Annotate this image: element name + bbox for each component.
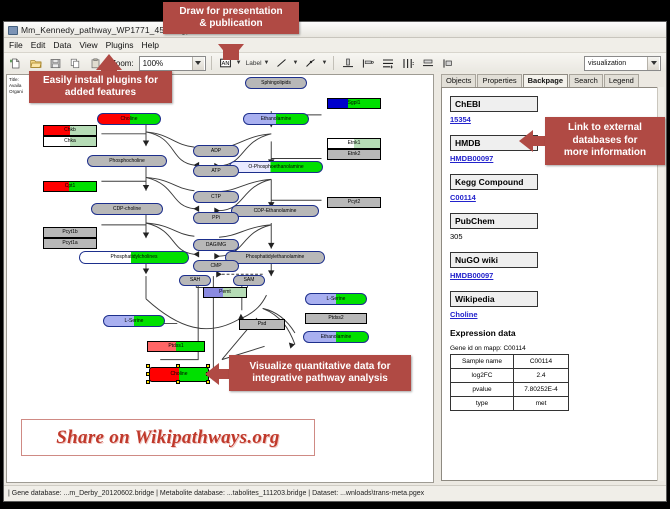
metabolite-atp[interactable]: ATP [193, 165, 239, 177]
gene-pemt[interactable]: Pemt [203, 287, 247, 298]
gene-ptdss1[interactable]: Ptdss1 [147, 341, 205, 352]
toolbar-separator-2 [333, 56, 334, 70]
distribute-vertical-icon[interactable] [379, 55, 396, 72]
backpage-link-wikipedia[interactable]: Choline [450, 310, 649, 319]
metabolite-dag-mg[interactable]: DAG/MG [193, 239, 239, 251]
callout-plugins-line2: added features [65, 87, 136, 100]
tab-properties[interactable]: Properties [477, 74, 521, 87]
metabolite-cmp[interactable]: CMP [193, 260, 239, 272]
callout-plugins-arrow-icon [96, 54, 122, 70]
callout-visualize-arrow-icon [205, 363, 219, 385]
visualization-combo[interactable]: visualization [584, 56, 661, 71]
selection-handle-nw[interactable] [146, 364, 150, 368]
menu-item-view[interactable]: View [79, 40, 97, 50]
expression-value-log2fc: 2.4 [514, 369, 569, 383]
expression-key-log2fc: log2FC [451, 369, 514, 383]
table-row: type met [451, 397, 569, 411]
callout-share-text: Share on Wikipathways.org [56, 427, 279, 449]
selection-handle-w[interactable] [146, 372, 150, 376]
gene-pcyt2[interactable]: Pcyt2 [327, 197, 381, 208]
table-row: log2FC 2.4 [451, 369, 569, 383]
callout-draw-arrow-icon [218, 44, 244, 60]
callout-links-line1: Link to external [568, 122, 642, 135]
menu-bar: File Edit Data View Plugins Help [4, 38, 666, 53]
metabolite-ethanolamine[interactable]: Ethanolamine [243, 113, 309, 125]
expression-value-pvalue: 7.80252E-4 [514, 383, 569, 397]
backpage-heading-pubchem: PubChem [450, 213, 538, 229]
anchor-dropdown-icon[interactable]: ▼ [321, 60, 327, 66]
menu-item-help[interactable]: Help [142, 40, 159, 50]
metabolite-l-serine-right[interactable]: L-Serine [305, 293, 367, 305]
copy-icon[interactable] [67, 55, 84, 72]
callout-plugins: Easily install plugins for added feature… [29, 71, 172, 103]
align-left-icon[interactable] [359, 55, 376, 72]
stack-icon[interactable] [419, 55, 436, 72]
backpage-heading-kegg: Kegg Compound [450, 174, 538, 190]
menu-item-file[interactable]: File [9, 40, 23, 50]
metabolite-adp[interactable]: ADP [193, 145, 239, 157]
anchor-icon[interactable] [302, 55, 319, 72]
status-bar: | Gene database: ...m_Derby_20120602.bri… [4, 485, 666, 501]
backpage-link-kegg[interactable]: C00114 [450, 193, 649, 202]
gene-sgpl1[interactable]: Sgpl1 [327, 98, 381, 109]
table-row: pvalue 7.80252E-4 [451, 383, 569, 397]
gene-etnk2[interactable]: Etnk2 [327, 149, 381, 160]
align-bottom-icon[interactable] [339, 55, 356, 72]
expression-table: Sample name C00114 log2FC 2.4 pvalue 7.8… [450, 354, 569, 411]
selection-handle-s[interactable] [176, 380, 180, 384]
backpage-heading-nugo: NuGO wiki [450, 252, 538, 268]
callout-links-arrow-icon [519, 130, 533, 152]
metabolite-sphingolipids[interactable]: Sphingolipids [245, 77, 307, 89]
gene-chka[interactable]: Chka [43, 136, 97, 147]
label-dropdown-icon[interactable]: ▼ [264, 60, 270, 66]
metabolite-ppi[interactable]: PPi [193, 212, 239, 224]
chevron-down-icon[interactable] [192, 57, 204, 70]
metabolite-l-serine-left[interactable]: L-Serine [103, 315, 165, 327]
metabolite-ethanolamine-lower[interactable]: Ethanolamine [303, 331, 369, 343]
datanode-dropdown-icon[interactable]: ▼ [236, 60, 242, 66]
callout-plugins-line1: Easily install plugins for [43, 75, 158, 88]
expression-value-type: met [514, 397, 569, 411]
gene-cpt1[interactable]: Cpt1 [43, 181, 97, 192]
tab-search[interactable]: Search [569, 74, 603, 87]
table-row: Sample name C00114 [451, 355, 569, 369]
status-bar-text: | Gene database: ...m_Derby_20120602.bri… [8, 490, 424, 497]
gene-etnk1[interactable]: Etnk1 [327, 138, 381, 149]
menu-item-plugins[interactable]: Plugins [106, 40, 134, 50]
gene-pcyt1a[interactable]: Pcyt1a [43, 238, 97, 249]
metabolite-phosphocholine[interactable]: Phosphocholine [87, 155, 167, 167]
callout-visualize-line1: Visualize quantitative data for [250, 361, 391, 374]
expression-key-sample-name: Sample name [451, 355, 514, 369]
metabolite-phosphatidylethanolamine[interactable]: Phosphatidylethanolamine [225, 251, 325, 264]
backpage-link-nugo[interactable]: HMDB00097 [450, 271, 649, 280]
new-file-icon[interactable] [7, 55, 24, 72]
zoom-combo[interactable]: 100% [139, 56, 206, 71]
visualization-chevron-icon[interactable] [647, 57, 659, 70]
expression-key-pvalue: pvalue [451, 383, 514, 397]
callout-links: Link to external databases for more info… [545, 117, 665, 165]
selection-handle-n[interactable] [176, 364, 180, 368]
line-dropdown-icon[interactable]: ▼ [292, 60, 298, 66]
callout-draw-line1: Draw for presentation [179, 6, 282, 19]
metabolite-phosphatidylcholines[interactable]: Phosphatidylcholines [79, 251, 189, 264]
backpage-heading-chebi: ChEBI [450, 96, 538, 112]
callout-links-line2: databases for [572, 135, 637, 148]
gene-chkb[interactable]: Chkb [43, 125, 97, 136]
save-icon[interactable] [47, 55, 64, 72]
zoom-value: 100% [143, 59, 163, 68]
backpage-value-pubchem: 305 [450, 232, 649, 241]
metabolite-sah[interactable]: SAH [179, 275, 211, 286]
callout-draw-line2: & publication [199, 18, 262, 31]
callout-visualize-line2: integrative pathway analysis [252, 373, 388, 386]
expression-data-title: Expression data [450, 328, 649, 338]
menu-item-edit[interactable]: Edit [31, 40, 46, 50]
gene-id-line: Gene id on mapp: C00114 [450, 345, 649, 352]
screenshot-root: Mm_Kennedy_pathway_WP1771_45176.gpml Fil… [0, 0, 670, 509]
expression-value-sample-name: C00114 [514, 355, 569, 369]
metabolite-choline-top[interactable]: Choline [97, 113, 161, 125]
sidebar-tabs: Objects Properties Backpage Search Legen… [437, 74, 664, 87]
gene-psd[interactable]: Psd [239, 319, 285, 330]
tab-legend[interactable]: Legend [604, 74, 639, 87]
metabolite-cdp-choline[interactable]: CDP-choline [91, 203, 163, 215]
open-folder-icon[interactable] [27, 55, 44, 72]
tab-objects[interactable]: Objects [441, 74, 476, 87]
title-bar: Mm_Kennedy_pathway_WP1771_45176.gpml [4, 22, 666, 38]
selection-handle-sw[interactable] [146, 380, 150, 384]
order-icon[interactable] [439, 55, 456, 72]
distribute-horizontal-icon[interactable] [399, 55, 416, 72]
label-dropdown-label: Label [246, 60, 262, 67]
callout-share: Share on Wikipathways.org [21, 419, 315, 456]
line-icon[interactable] [273, 55, 290, 72]
gene-pcyt1b[interactable]: Pcyt1b [43, 227, 97, 238]
menu-item-data[interactable]: Data [53, 40, 71, 50]
toolbar-separator [211, 56, 212, 70]
app-icon [8, 25, 17, 34]
visualization-value: visualization [588, 60, 626, 67]
svg-text:AN: AN [221, 61, 229, 67]
gene-ptdss2[interactable]: Ptdss2 [305, 313, 367, 324]
callout-visualize: Visualize quantitative data for integrat… [229, 355, 411, 391]
metabolite-cdp-ethanolamine[interactable]: CDP-Ethanolamine [231, 205, 319, 217]
callout-links-line3: more information [564, 147, 646, 160]
backpage-heading-wikipedia: Wikipedia [450, 291, 538, 307]
tab-backpage[interactable]: Backpage [523, 74, 568, 87]
expression-key-type: type [451, 397, 514, 411]
callout-draw: Draw for presentation & publication [163, 2, 299, 34]
metabolite-o-phosphoethanolamine[interactable]: O-Phosphoethanolamine [229, 161, 323, 173]
metabolite-ctp[interactable]: CTP [193, 191, 239, 203]
metabolite-sam[interactable]: SAM [233, 275, 265, 286]
